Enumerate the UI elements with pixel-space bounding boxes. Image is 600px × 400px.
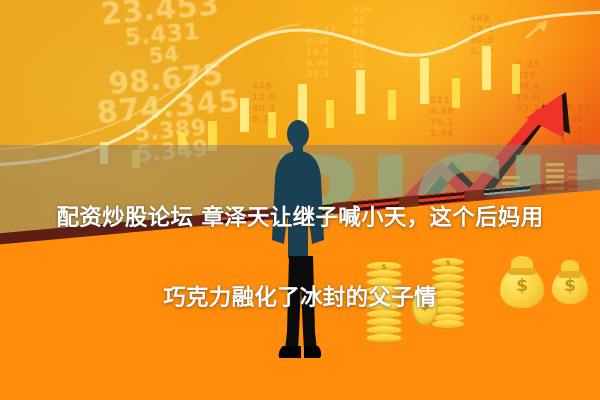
- headline-line-2: 巧克力融化了冰封的父子情: [0, 278, 600, 318]
- arrow-small: [526, 20, 548, 38]
- candlestick: [240, 98, 249, 132]
- headline-text: 配资炒股论坛 章泽天让继子喊小天，这个后妈用 巧克力融化了冰封的父子情: [0, 158, 600, 358]
- headline-line-1: 配资炒股论坛 章泽天让继子喊小天，这个后妈用: [0, 198, 600, 238]
- banner-image: 23.453 5.431 54 98.675 874.345 5.389 5.3…: [0, 0, 600, 400]
